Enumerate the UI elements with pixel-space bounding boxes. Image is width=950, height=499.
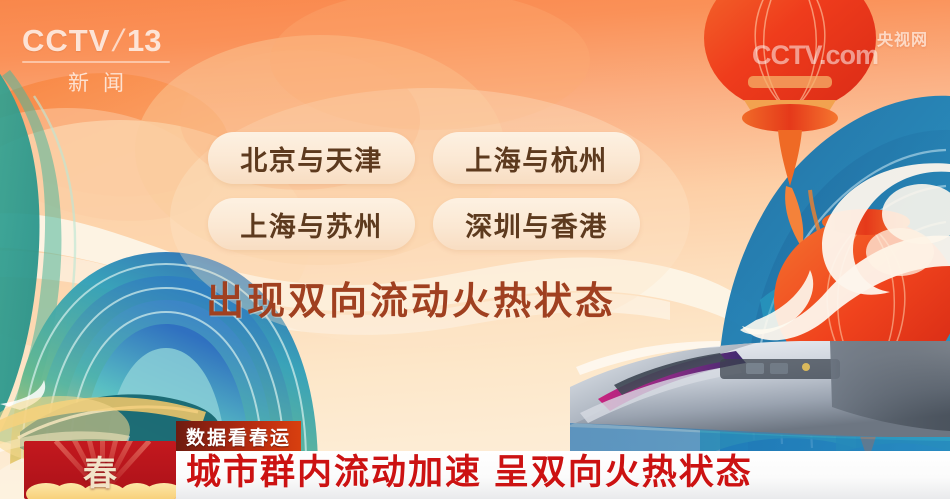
spring-character: 春 <box>24 446 176 495</box>
city-pair-pill: 深圳与香港 <box>433 198 640 250</box>
banner-headline: 城市群内流动加速 呈双向火热状态 <box>186 444 753 495</box>
lower-third-banner: 春 数据看春运 城市群内流动加速 呈双向火热状态 <box>0 411 950 499</box>
city-pair-list: 北京与天津 上海与杭州 上海与苏州 深圳与香港 <box>208 132 658 250</box>
news-graphic-stage: CCTV / 13 新闻 央视网 CCTV.com 北京与天津 上海与杭州 上海… <box>0 0 950 499</box>
slogan-text: 出现双向流动火热状态 <box>206 270 616 325</box>
city-pair-pill: 上海与苏州 <box>208 198 415 250</box>
spring-festival-decoration: 春 <box>24 441 176 499</box>
city-pair-pill: 北京与天津 <box>208 132 415 184</box>
city-pair-pill: 上海与杭州 <box>433 132 640 184</box>
